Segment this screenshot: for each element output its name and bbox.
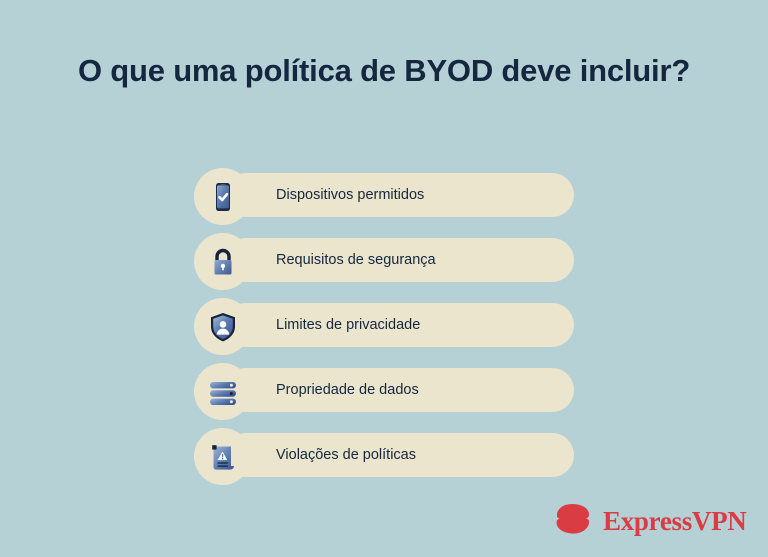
document-warning-icon [206,440,240,474]
expressvpn-logo: ExpressVPN [552,500,747,542]
slide-canvas: O que uma política de BYOD deve incluir?… [0,0,768,557]
page-title: O que uma política de BYOD deve incluir? [0,52,768,89]
list-item-pill: Dispositivos permitidos [224,173,574,217]
list-item-pill: Propriedade de dados [224,368,574,412]
list-item-icon-badge [194,298,251,355]
expressvpn-wordmark: ExpressVPN [603,508,747,535]
list-item-pill: Violações de políticas [224,433,574,477]
phone-check-icon [206,180,240,214]
list-item-label: Propriedade de dados [276,382,419,398]
list-item-label: Dispositivos permitidos [276,187,424,203]
shield-person-icon [206,310,240,344]
list-item-label: Violações de políticas [276,447,416,463]
list-item-pill: Requisitos de segurança [224,238,574,282]
list-item: Violações de políticas [194,428,574,484]
list-item-pill: Limites de privacidade [224,303,574,347]
database-stack-icon [206,375,240,409]
lock-icon [206,245,240,279]
list-item-label: Requisitos de segurança [276,252,436,268]
list-item-icon-badge [194,233,251,290]
list-item: Limites de privacidade [194,298,574,354]
checklist: Dispositivos permitidos [194,168,574,493]
list-item: Propriedade de dados [194,363,574,419]
list-item-icon-badge [194,168,251,225]
list-item: Dispositivos permitidos [194,168,574,224]
list-item-icon-badge [194,428,251,485]
list-item: Requisitos de segurança [194,233,574,289]
expressvpn-e-mark-icon [552,502,594,541]
list-item-label: Limites de privacidade [276,317,420,333]
list-item-icon-badge [194,363,251,420]
